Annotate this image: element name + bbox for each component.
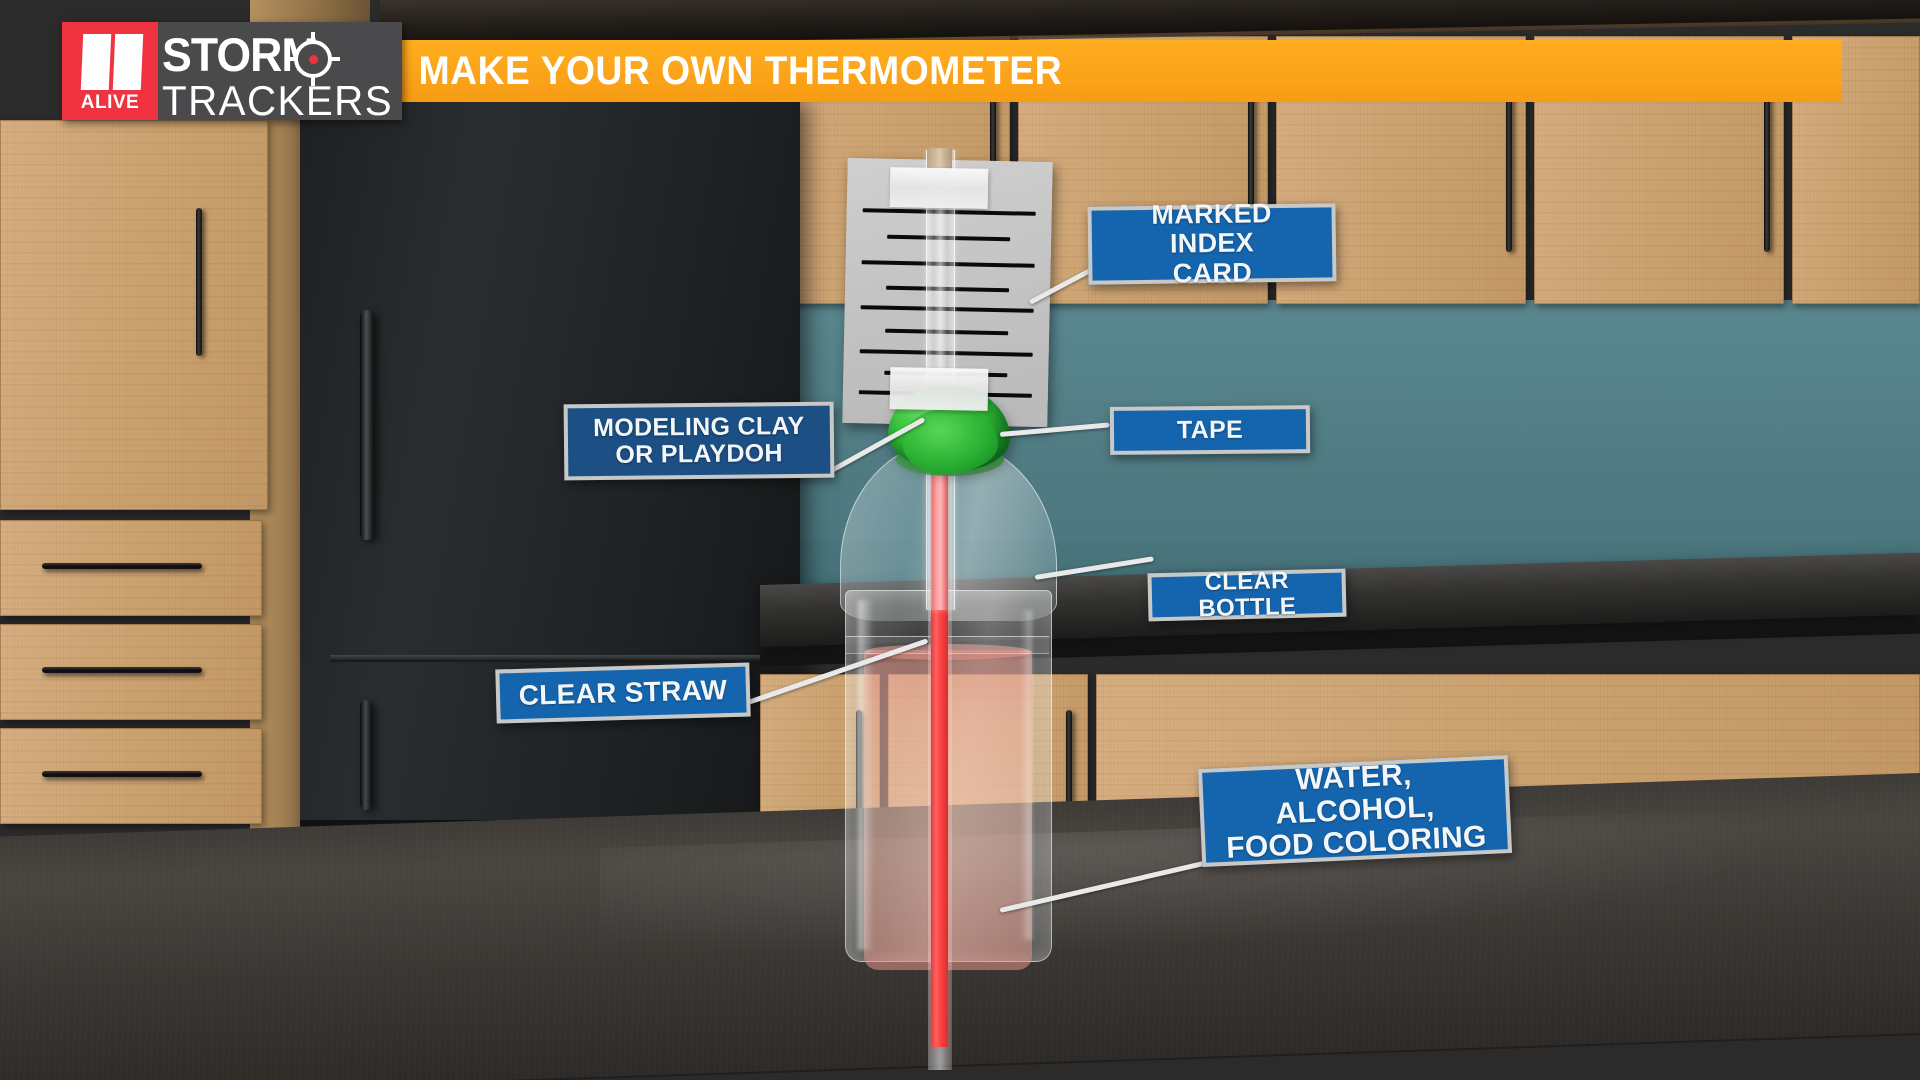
logo-trackers-text: TRACKERS	[162, 77, 393, 125]
logo-alive-text: ALIVE	[62, 92, 158, 114]
callout-line: CLEAR STRAW	[518, 675, 727, 711]
logo-eleven-bar-1	[81, 34, 111, 90]
bottle-highlight-left	[858, 600, 874, 950]
callout-line: TAPE	[1177, 416, 1243, 444]
callout-tape[interactable]: TAPE	[1110, 405, 1310, 455]
cabinet-handle-icon	[1506, 92, 1512, 252]
left-cabinet-column	[0, 30, 300, 860]
callout-line: CARD	[1106, 257, 1318, 289]
callout-clear-bottle[interactable]: CLEAR BOTTLE	[1147, 569, 1346, 622]
target-icon	[294, 40, 332, 78]
cabinet-handle-icon	[1764, 92, 1770, 252]
broadcast-graphic: MARKED INDEX CARD TAPE MODELING CLAY OR …	[0, 0, 1920, 1080]
tape-bottom	[890, 367, 989, 411]
logo-eleven-bar-2	[113, 34, 143, 90]
callout-water-alcohol[interactable]: WATER, ALCOHOL, FOOD COLORING	[1198, 755, 1512, 867]
title-banner: MAKE YOUR OWN THERMOMETER	[400, 40, 1842, 102]
drawer-handle-icon	[42, 771, 202, 777]
callout-line: OR PLAYDOH	[593, 440, 805, 469]
callout-line: CLEAR BOTTLE	[1165, 567, 1328, 623]
callout-clear-straw[interactable]: CLEAR STRAW	[495, 662, 750, 723]
straw-top-opening	[927, 148, 952, 170]
refrigerator-freezer-handle-icon	[360, 700, 372, 810]
left-upper-door	[0, 120, 268, 510]
tape-top	[890, 167, 989, 209]
callout-line: MARKED INDEX	[1105, 199, 1318, 260]
page-title: MAKE YOUR OWN THERMOMETER	[400, 40, 1741, 102]
drawer-handle-icon	[42, 667, 202, 673]
modeling-clay-highlight	[902, 408, 998, 474]
callout-marked-index-card[interactable]: MARKED INDEX CARD	[1087, 203, 1336, 284]
drawer-handle-icon	[42, 563, 202, 569]
refrigerator-handle-icon	[360, 310, 374, 540]
callout-modeling-clay[interactable]: MODELING CLAY OR PLAYDOH	[564, 402, 835, 481]
station-logo: ALIVE STORM TRACKERS	[62, 22, 402, 120]
callout-line: MODELING CLAY	[593, 413, 805, 442]
cabinet-handle-icon	[196, 208, 202, 356]
bottle-highlight-right	[1020, 610, 1032, 940]
